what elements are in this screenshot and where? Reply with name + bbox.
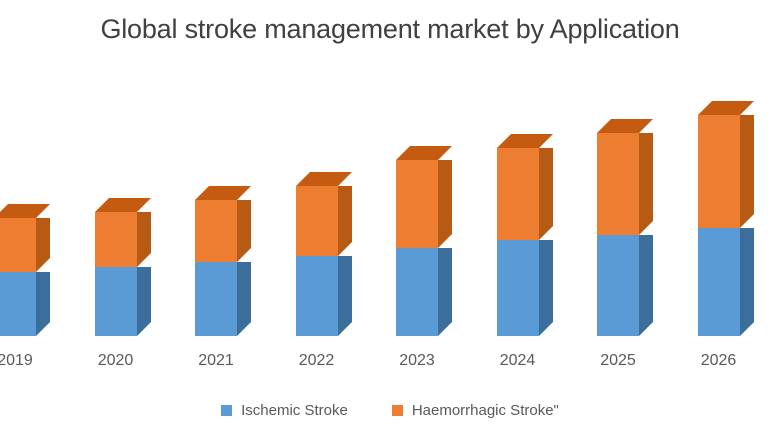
x-axis-label: 2023: [382, 352, 452, 370]
x-axis-label: 2026: [684, 352, 754, 370]
bar-face-side: [740, 228, 754, 336]
plot-area: 20192020202120222023202420252026: [0, 0, 780, 440]
bar-segment-haemorrhagic-stroke: [195, 200, 237, 262]
legend-label: Ischemic Stroke: [241, 402, 348, 419]
bar-face-top: [698, 101, 754, 115]
bar-face-front: [195, 262, 237, 336]
bar-face-side: [338, 256, 352, 336]
bar-face-front: [296, 186, 338, 256]
bar-face-top: [95, 198, 151, 212]
bar-face-top: [296, 172, 352, 186]
chart-legend: Ischemic StrokeHaemorrhagic Stroke": [0, 402, 780, 419]
bar-segment-haemorrhagic-stroke: [597, 133, 639, 235]
bar-face-top: [396, 146, 452, 160]
x-axis-label: 2021: [181, 352, 251, 370]
bar-face-side: [137, 212, 151, 267]
bar-face-front: [95, 212, 137, 267]
bar-face-side: [36, 218, 50, 272]
legend-label: Haemorrhagic Stroke": [412, 402, 559, 419]
bar-face-front: [698, 115, 740, 228]
bar-segment-haemorrhagic-stroke: [396, 160, 438, 248]
bar-face-side: [539, 148, 553, 240]
x-axis-label: 2019: [0, 352, 50, 370]
bar-face-side: [237, 262, 251, 336]
bar-segment-haemorrhagic-stroke: [0, 218, 36, 272]
bar-face-front: [0, 218, 36, 272]
bar-face-front: [0, 272, 36, 336]
bar-face-side: [539, 240, 553, 336]
bar-face-side: [639, 235, 653, 336]
bar-face-top: [497, 134, 553, 148]
legend-swatch-icon: [221, 405, 232, 416]
bar-face-front: [396, 248, 438, 336]
bar-face-front: [597, 235, 639, 336]
bar-face-side: [338, 186, 352, 256]
bar-segment-ischemic-stroke: [296, 256, 338, 336]
bar-segment-haemorrhagic-stroke: [698, 115, 740, 228]
bar-face-front: [698, 228, 740, 336]
bar-face-front: [95, 267, 137, 336]
bar-face-front: [497, 148, 539, 240]
chart-container: Global stroke management market by Appli…: [0, 0, 780, 440]
bar-face-side: [36, 272, 50, 336]
legend-swatch-icon: [392, 405, 403, 416]
bar-segment-haemorrhagic-stroke: [497, 148, 539, 240]
bar-segment-haemorrhagic-stroke: [95, 212, 137, 267]
bar-face-side: [639, 133, 653, 235]
bar-segment-ischemic-stroke: [95, 267, 137, 336]
bar-face-side: [438, 160, 452, 248]
bar-segment-ischemic-stroke: [0, 272, 36, 336]
bar-segment-ischemic-stroke: [396, 248, 438, 336]
bar-face-front: [296, 256, 338, 336]
bar-face-front: [195, 200, 237, 262]
bar-segment-ischemic-stroke: [698, 228, 740, 336]
x-axis-label: 2025: [583, 352, 653, 370]
bar-face-top: [0, 204, 50, 218]
bar-face-side: [740, 115, 754, 228]
bar-segment-haemorrhagic-stroke: [296, 186, 338, 256]
bar-face-front: [497, 240, 539, 336]
x-axis-label: 2022: [282, 352, 352, 370]
x-axis-label: 2020: [81, 352, 151, 370]
bar-segment-ischemic-stroke: [497, 240, 539, 336]
bar-face-side: [137, 267, 151, 336]
legend-item[interactable]: Ischemic Stroke: [221, 402, 348, 419]
legend-item[interactable]: Haemorrhagic Stroke": [392, 402, 559, 419]
x-axis-label: 2024: [483, 352, 553, 370]
bar-segment-ischemic-stroke: [195, 262, 237, 336]
bar-face-top: [195, 186, 251, 200]
bar-face-side: [237, 200, 251, 262]
bar-face-top: [597, 119, 653, 133]
bar-face-front: [396, 160, 438, 248]
bar-face-front: [597, 133, 639, 235]
bar-face-side: [438, 248, 452, 336]
bar-segment-ischemic-stroke: [597, 235, 639, 336]
